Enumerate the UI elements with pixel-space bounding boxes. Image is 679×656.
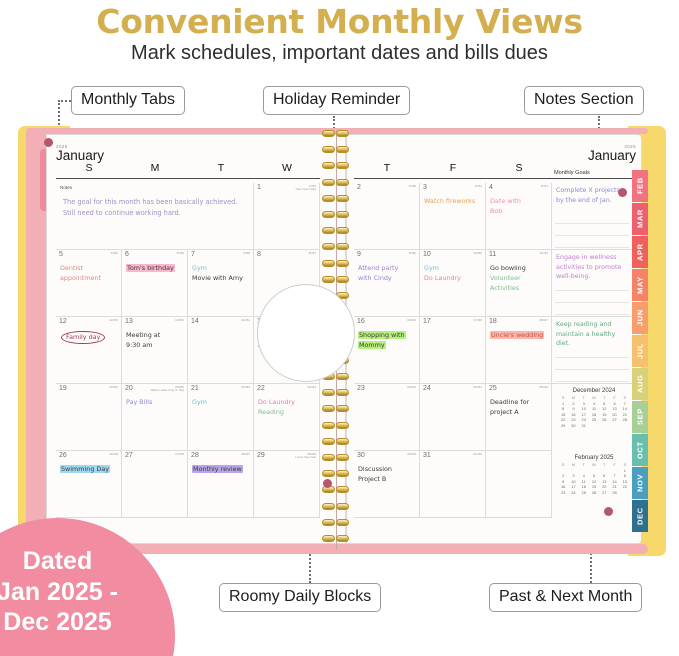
calendar-event: Gym xyxy=(192,398,250,407)
calendar-day-cell[interactable] xyxy=(486,451,552,518)
weekday-header-2: T xyxy=(188,162,254,174)
badge-line-2: Jan 2025 - xyxy=(0,577,118,608)
day-number: 21 xyxy=(191,385,199,392)
lunar-date: 13/352 xyxy=(175,319,184,322)
marker-dot-mini-cal xyxy=(604,507,613,516)
lunar-date: 26/339 xyxy=(109,453,118,456)
day-number: 27 xyxy=(125,452,133,459)
calendar-event: Discussion xyxy=(358,465,416,474)
event-highlight: Swimming Day xyxy=(60,465,110,473)
calendar-day-cell[interactable]: 2626/339Swimming Day xyxy=(56,451,122,518)
lunar-date: 31/334 xyxy=(473,453,482,456)
calendar-day-cell[interactable]: 2222/343Do LaundryReading xyxy=(254,384,320,451)
month-tab-mar[interactable]: MAR xyxy=(632,203,648,235)
calendar-day-cell[interactable]: 2828/337Monthly review xyxy=(188,451,254,518)
day-number: 3 xyxy=(423,184,427,191)
calendar-event: Tom's birthday xyxy=(126,264,184,273)
day-number: 26 xyxy=(59,452,67,459)
mini-day: 28 xyxy=(609,490,619,495)
notes-label: Notes xyxy=(60,185,72,190)
event-highlight: Monthly review xyxy=(192,465,243,473)
month-tab-sep[interactable]: SEP xyxy=(632,401,648,433)
mini-calendar-title: December 2024 xyxy=(558,388,630,394)
calendar-day-cell[interactable]: 1111/354Go bowlingVolunteerActivities xyxy=(486,250,552,317)
weekday-header-4: T xyxy=(354,162,420,174)
monthly-goal-text: Engage in wellness activities to promote… xyxy=(556,253,629,282)
lunar-date: 24/341 xyxy=(473,386,482,389)
spiral-ring xyxy=(321,422,351,430)
mini-day: 31 xyxy=(579,423,589,428)
goal-ruled-line xyxy=(555,290,629,291)
mini-day: 26 xyxy=(589,490,599,495)
calendar-day-cell[interactable]: 1414/351 xyxy=(188,317,254,384)
day-number: 9 xyxy=(357,251,361,258)
lunar-date: 21/344 xyxy=(241,386,250,389)
calendar-event: Movie with Amy xyxy=(192,274,250,283)
month-tab-nov[interactable]: NOV xyxy=(632,467,648,499)
calendar-event: Activities xyxy=(490,284,548,293)
page-right-month: January xyxy=(588,149,636,163)
lunar-date: 3/362 xyxy=(475,185,482,188)
monthly-goal-cell[interactable]: Engage in wellness activities to promote… xyxy=(552,250,632,317)
badge-line-3: Dec 2025 xyxy=(3,607,111,638)
weekday-header-0: S xyxy=(56,162,122,174)
event-highlight: Uncle's wedding xyxy=(490,331,544,339)
spiral-ring xyxy=(321,535,351,543)
calendar-day-cell[interactable]: 66/359Tom's birthday xyxy=(122,250,188,317)
mini-day: 30 xyxy=(568,423,578,428)
day-number: 30 xyxy=(357,452,365,459)
lunar-date: 17/348 xyxy=(473,319,482,322)
event-highlight: Shopping with xyxy=(358,331,406,339)
lunar-date: 22/343 xyxy=(307,386,316,389)
month-tab-apr[interactable]: APR xyxy=(632,236,648,268)
day-number: 22 xyxy=(257,385,265,392)
calendar-event: Reading xyxy=(258,408,316,417)
day-number: 18 xyxy=(489,318,497,325)
notes-section[interactable]: NotesThe goal for this month has been ba… xyxy=(56,183,254,250)
calendar-day-cell[interactable]: 2424/341 xyxy=(420,384,486,451)
day-number: 31 xyxy=(423,452,431,459)
lunar-date: 1/354New Year's Day xyxy=(296,185,316,192)
calendar-event: Do Laundry xyxy=(258,398,316,407)
month-tab-jun[interactable]: JUN xyxy=(632,302,648,334)
month-tab-dec[interactable]: DEC xyxy=(632,500,648,532)
spiral-ring xyxy=(321,211,351,219)
lunar-date: 8/357 xyxy=(309,252,316,255)
calendar-event: Project B xyxy=(358,475,416,484)
goal-ruled-line xyxy=(555,223,629,224)
day-number: 13 xyxy=(125,318,133,325)
calendar-event: Watch fireworks xyxy=(424,197,482,206)
calendar-event: Shopping with xyxy=(358,331,416,340)
calendar-event: Attend party xyxy=(358,264,416,273)
calendar-day-cell[interactable]: 11/354New Year's Day xyxy=(254,183,320,250)
monthly-goals-header: Monthly Goals xyxy=(554,170,590,176)
calendar-day-cell[interactable]: 55/360Dentistappointment xyxy=(56,250,122,317)
page-left-header: 2025 January xyxy=(56,144,104,163)
spiral-ring xyxy=(321,438,351,446)
lunar-date: 10/355 xyxy=(473,252,482,255)
page-title: Convenient Monthly Views xyxy=(0,2,679,41)
mini-day xyxy=(620,423,630,428)
lunar-date: 28/337 xyxy=(241,453,250,456)
calendar-event: Do Laundry xyxy=(424,274,482,283)
lunar-date: 30/335 xyxy=(407,453,416,456)
marker-dot-daily xyxy=(323,479,332,488)
lunar-date: 25/340 xyxy=(539,386,548,389)
calendar-event: Go bowling xyxy=(490,264,548,273)
calendar-event: Meeting at xyxy=(126,331,184,340)
calendar-day-cell[interactable]: 3131/334 xyxy=(420,451,486,518)
calendar-event: Bob xyxy=(490,207,548,216)
weekday-header-3: W xyxy=(254,162,320,174)
badge-line-1: Dated xyxy=(23,546,92,577)
calendar-day-cell[interactable]: 99/356Attend partywith Cindy xyxy=(354,250,420,317)
marker-dot-goals xyxy=(618,188,627,197)
lunar-date: 27/338 xyxy=(175,453,184,456)
lunar-date: 29/336Lunar New Year xyxy=(295,453,316,460)
calendar-day-cell[interactable]: 33/362Watch fireworks xyxy=(420,183,486,250)
event-highlight: Mommy xyxy=(358,341,386,349)
day-number: 24 xyxy=(423,385,431,392)
calendar-event: Pay Bills xyxy=(126,398,184,407)
spiral-ring xyxy=(321,470,351,478)
lunar-date: 20/345Martin Luther King Jr. Day xyxy=(151,386,184,393)
lunar-date: 2/360 xyxy=(409,185,416,188)
spiral-ring xyxy=(321,454,351,462)
goal-ruled-line xyxy=(555,247,629,248)
goal-ruled-line xyxy=(555,357,629,358)
calendar-event: Swimming Day xyxy=(60,465,118,474)
month-tab-jul[interactable]: JUL xyxy=(632,335,648,367)
spiral-ring xyxy=(321,519,351,527)
mini-day xyxy=(589,423,599,428)
event-highlight: Tom's birthday xyxy=(126,264,175,272)
holiday-magnifier-circle xyxy=(257,284,355,382)
day-number: 14 xyxy=(191,318,199,325)
day-number: 12 xyxy=(59,318,67,325)
weekday-rule-left xyxy=(56,178,320,179)
mini-day: 27 xyxy=(599,490,609,495)
goal-ruled-line xyxy=(555,314,629,315)
calendar-event: Date with xyxy=(490,197,548,206)
day-number: 5 xyxy=(59,251,63,258)
mini-day: 24 xyxy=(568,490,578,495)
month-tab-oct[interactable]: OCT xyxy=(632,434,648,466)
calendar-event: Family day xyxy=(61,331,105,344)
page-subtitle: Mark schedules, important dates and bill… xyxy=(0,42,679,65)
mini-day: 29 xyxy=(558,423,568,428)
spiral-ring xyxy=(321,405,351,413)
goal-ruled-line xyxy=(555,369,629,370)
spiral-ring xyxy=(321,179,351,187)
calendar-day-cell[interactable]: 2929/336Lunar New Year xyxy=(254,451,320,518)
calendar-event: Monthly review xyxy=(192,465,250,474)
calendar-day-cell[interactable]: 2525/340Deadline forproject A xyxy=(486,384,552,451)
lunar-date: 6/359 xyxy=(177,252,184,255)
calendar-event: 9:30 am xyxy=(126,341,184,350)
calendar-day-cell[interactable]: 3030/335DiscussionProject B xyxy=(354,451,420,518)
lunar-date: 5/360 xyxy=(111,252,118,255)
month-tab-aug[interactable]: AUG xyxy=(632,368,648,400)
calendar-day-cell[interactable]: 22/360 xyxy=(354,183,420,250)
month-tab-may[interactable]: MAY xyxy=(632,269,648,301)
day-number: 2 xyxy=(357,184,361,191)
month-tab-feb[interactable]: FEB xyxy=(632,170,648,202)
spiral-ring xyxy=(321,260,351,268)
calendar-event: Deadline for xyxy=(490,398,548,407)
calendar-day-cell[interactable]: 1313/352Meeting at9:30 am xyxy=(122,317,188,384)
spiral-ring xyxy=(321,276,351,284)
calendar-day-cell[interactable]: 44/361Date withBob xyxy=(486,183,552,250)
lunar-date: 4/361 xyxy=(541,185,548,188)
day-number: 4 xyxy=(489,184,493,191)
lunar-date: 18/347 xyxy=(539,319,548,322)
day-number: 17 xyxy=(423,318,431,325)
day-number: 19 xyxy=(59,385,67,392)
spiral-ring xyxy=(321,146,351,154)
day-number: 28 xyxy=(191,452,199,459)
calendar-day-cell[interactable]: 2121/344Gym xyxy=(188,384,254,451)
day-number: 11 xyxy=(489,251,496,258)
weekday-rule-right xyxy=(354,178,632,179)
calendar-day-cell[interactable]: 2323/342 xyxy=(354,384,420,451)
calendar-day-cell[interactable]: 1010/355GymDo Laundry xyxy=(420,250,486,317)
weekday-header-6: S xyxy=(486,162,552,174)
day-number: 6 xyxy=(125,251,129,258)
calendar-day-cell[interactable]: 2020/345Martin Luther King Jr. DayPay Bi… xyxy=(122,384,188,451)
calendar-day-cell[interactable]: 1616/349Shopping withMommy xyxy=(354,317,420,384)
product-marketing-image: Convenient Monthly Views Mark schedules,… xyxy=(0,0,679,656)
calendar-event: project A xyxy=(490,408,548,417)
spiral-ring xyxy=(321,389,351,397)
goal-ruled-line xyxy=(555,381,629,382)
day-number: 25 xyxy=(489,385,497,392)
mini-calendar[interactable]: February 2025SMTWTFS12345678910111213141… xyxy=(558,455,630,496)
calendar-event: Gym xyxy=(192,264,250,273)
day-number: 20 xyxy=(125,385,133,392)
monthly-goal-text: Keep reading and maintain a healthy diet… xyxy=(556,320,629,349)
mini-day xyxy=(620,490,630,495)
spiral-ring xyxy=(321,130,351,138)
spiral-ring xyxy=(321,243,351,251)
weekday-header-1: M xyxy=(122,162,188,174)
day-number: 7 xyxy=(191,251,195,258)
calendar-event: Uncle's wedding xyxy=(490,331,548,340)
goal-ruled-line xyxy=(555,302,629,303)
lunar-date: 7/358 xyxy=(243,252,250,255)
spiral-ring xyxy=(321,162,351,170)
mini-day: 25 xyxy=(579,490,589,495)
calendar-event: appointment xyxy=(60,274,118,283)
spiral-ring xyxy=(321,195,351,203)
calendar-day-cell[interactable]: 1919/346 xyxy=(56,384,122,451)
marker-dot-jan-tab xyxy=(44,138,53,147)
lunar-date: 9/356 xyxy=(409,252,416,255)
mini-day: 23 xyxy=(558,490,568,495)
lunar-date: 19/346 xyxy=(109,386,118,389)
day-number: 1 xyxy=(257,184,261,191)
lunar-date: 11/354 xyxy=(539,252,548,255)
calendar-day-cell[interactable]: 77/358GymMovie with Amy xyxy=(188,250,254,317)
mini-calendar-title: February 2025 xyxy=(558,455,630,461)
callout-past-next-month[interactable]: Past & Next Month xyxy=(489,583,642,612)
calendar-event: Volunteer xyxy=(490,274,548,283)
monthly-goal-cell[interactable]: Keep reading and maintain a healthy diet… xyxy=(552,317,632,384)
calendar-event: Dentist xyxy=(60,264,118,273)
callout-holiday-reminder[interactable]: Holiday Reminder xyxy=(263,86,410,115)
notes-text: The goal for this month has been basical… xyxy=(63,197,247,219)
callout-monthly-tabs[interactable]: Monthly Tabs xyxy=(71,86,185,115)
planner-book: JAN 2025 January 2025 January SMTWTFSMon… xyxy=(18,126,666,558)
mini-day xyxy=(599,423,609,428)
calendar-event: Gym xyxy=(424,264,482,273)
day-number: 8 xyxy=(257,251,261,258)
mini-calendar[interactable]: December 2024SMTWTFS12345678910111213141… xyxy=(558,388,630,429)
lunar-date: 23/342 xyxy=(407,386,416,389)
weekday-header-5: F xyxy=(420,162,486,174)
spiral-ring xyxy=(321,227,351,235)
spiral-ring xyxy=(321,503,351,511)
calendar-day-cell[interactable]: 1212/353Family day xyxy=(56,317,122,384)
calendar-day-cell[interactable]: 1818/347Uncle's wedding xyxy=(486,317,552,384)
page-right-header: 2025 January xyxy=(588,144,636,163)
goal-ruled-line xyxy=(555,235,629,236)
day-number: 29 xyxy=(257,452,265,459)
lunar-date: 12/353 xyxy=(109,319,118,322)
calendar-day-cell[interactable]: 2727/338 xyxy=(122,451,188,518)
callout-roomy-daily-blocks[interactable]: Roomy Daily Blocks xyxy=(219,583,381,612)
calendar-day-cell[interactable]: 1717/348 xyxy=(420,317,486,384)
lunar-date: 16/349 xyxy=(407,319,416,322)
day-number: 16 xyxy=(357,318,365,325)
day-number: 10 xyxy=(423,251,431,258)
day-number: 23 xyxy=(357,385,365,392)
callout-notes-section[interactable]: Notes Section xyxy=(524,86,644,115)
calendar-event: with Cindy xyxy=(358,274,416,283)
mini-day xyxy=(609,423,619,428)
calendar-event: Mommy xyxy=(358,341,416,350)
lunar-date: 14/351 xyxy=(241,319,250,322)
